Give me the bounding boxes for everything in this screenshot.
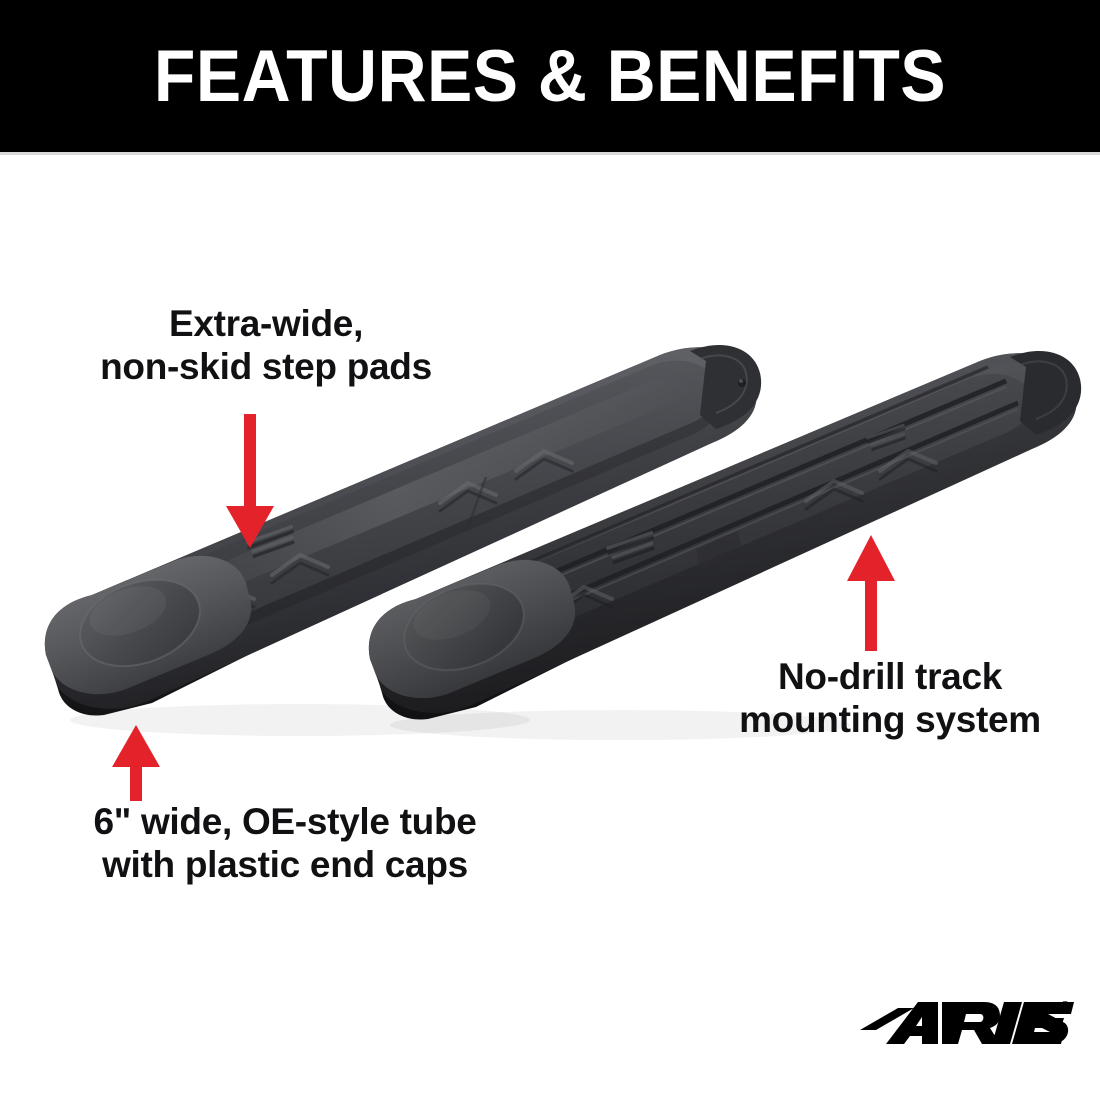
arrow-up-end-caps <box>108 725 164 801</box>
arrow-up-mounting-track <box>843 535 899 651</box>
registered-trademark-symbol: ® <box>1061 1000 1069 1012</box>
feature-benefits-infographic: FEATURES & BENEFITS <box>0 0 1100 1100</box>
aries-logo <box>858 996 1074 1052</box>
callout-mounting-track: No-drill track mounting system <box>700 655 1080 742</box>
arrow-down-step-pads <box>222 414 278 550</box>
callout-step-pads: Extra-wide, non-skid step pads <box>56 302 476 389</box>
end-cap-left <box>45 556 251 694</box>
callout-end-caps: 6" wide, OE-style tube with plastic end … <box>40 800 530 887</box>
page-title: FEATURES & BENEFITS <box>39 0 1062 152</box>
